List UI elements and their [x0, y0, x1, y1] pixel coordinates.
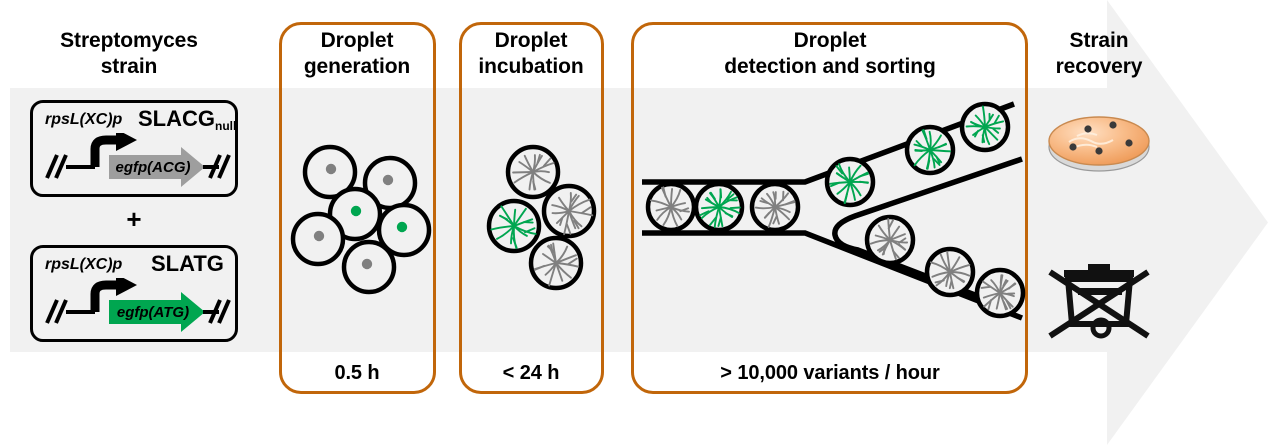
- stage-header-strain-line1: Streptomyces: [28, 28, 230, 54]
- stage-header-recovery: Strain recovery: [1042, 28, 1156, 79]
- droplet-sorting-illustration: [634, 96, 1026, 344]
- droplet-incubation-illustration: [462, 120, 604, 310]
- cell-dot: [383, 175, 393, 185]
- metric-detection: > 10,000 variants / hour: [636, 362, 1024, 385]
- stage-header-recovery-line1: Strain: [1042, 28, 1156, 54]
- construct-1-name-subscript: null: [215, 119, 236, 133]
- construct-box-slatg: rpsL(XC)p SLATG egfp(ATG): [30, 245, 238, 342]
- cell-dot: [397, 222, 407, 232]
- construct-2-gene-label: egfp(ATG): [105, 304, 201, 321]
- petri-dish-with-colonies-icon: [1043, 95, 1155, 187]
- cell-dot: [314, 231, 324, 241]
- construct-1-gene-label: egfp(ACG): [105, 159, 201, 176]
- construct-1-promoter-label: rpsL(XC)p: [45, 111, 122, 129]
- construct-1-name-main: SLACG: [138, 106, 215, 131]
- figure-canvas: Streptomyces strain Droplet generation D…: [0, 0, 1268, 445]
- cell-dot: [362, 259, 372, 269]
- cell-dot: [326, 164, 336, 174]
- construct-1-name: SLACGnull: [138, 106, 236, 132]
- metric-generation: 0.5 h: [281, 362, 433, 385]
- stage-header-strain-line2: strain: [28, 54, 230, 80]
- stage-header-strain: Streptomyces strain: [28, 28, 230, 79]
- crossed-out-waste-bin-icon: [1042, 252, 1158, 346]
- construct-2-name-main: SLATG: [151, 251, 224, 276]
- cell-dot: [351, 206, 361, 216]
- construct-2-name: SLATG: [151, 251, 224, 277]
- construct-2-promoter-label: rpsL(XC)p: [45, 256, 122, 274]
- construct-combine-operator: +: [30, 206, 238, 232]
- metric-incubation: < 24 h: [461, 362, 601, 385]
- droplet-generation-illustration: [283, 120, 433, 310]
- stage-header-recovery-line2: recovery: [1042, 54, 1156, 80]
- construct-box-slacg-null: rpsL(XC)p SLACGnull: [30, 100, 238, 197]
